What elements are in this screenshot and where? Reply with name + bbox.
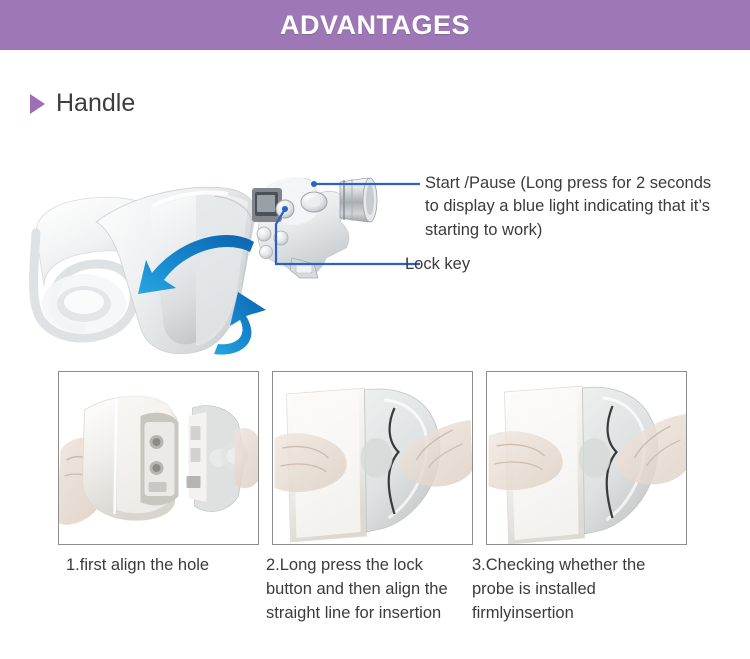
section-heading-label: Handle <box>56 89 135 118</box>
callout-start-pause: Start /Pause (Long press for 2 seconds t… <box>425 172 715 242</box>
callout-lock-key: Lock key <box>405 253 585 276</box>
photo-press-lock <box>272 371 473 545</box>
section-heading-handle: Handle <box>30 89 135 118</box>
caption-step-3: 3.Checking whether the probe is installe… <box>466 554 676 626</box>
leader-dot-lock-key <box>282 206 288 212</box>
photo-check-firm <box>486 371 687 545</box>
advantages-page: ADVANTAGES Handle <box>0 0 750 659</box>
photo-align-hole <box>58 371 259 545</box>
page-title: ADVANTAGES <box>280 10 470 41</box>
installation-captions: 1.first align the hole 2.Long press the … <box>58 554 698 626</box>
caption-step-1: 1.first align the hole <box>58 554 266 626</box>
probe-cartridge <box>252 177 377 278</box>
leader-dot-start-pause <box>311 181 317 187</box>
caption-step-2: 2.Long press the lock button and then al… <box>266 554 466 626</box>
installation-photo-strip <box>58 371 687 545</box>
triangle-right-icon <box>30 94 45 114</box>
page-banner: ADVANTAGES <box>0 0 750 50</box>
